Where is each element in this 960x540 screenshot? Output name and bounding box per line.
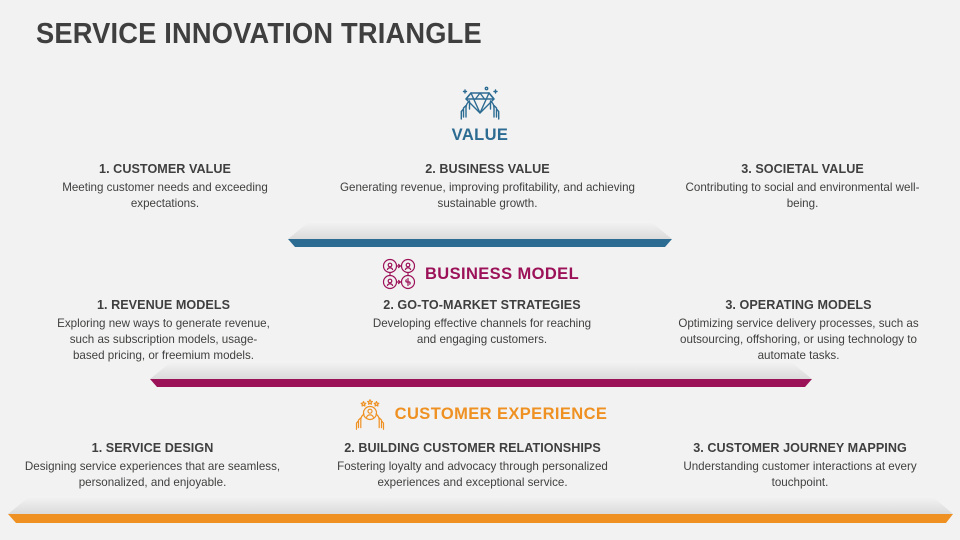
item-desc: Fostering loyalty and advocacy through p… bbox=[305, 459, 640, 491]
separator-customer-experience bbox=[0, 496, 960, 524]
separator-value bbox=[0, 221, 960, 247]
item-title: 2. BUILDING CUSTOMER RELATIONSHIPS bbox=[305, 441, 640, 455]
section-header-business-model: BUSINESS MODEL bbox=[0, 258, 960, 290]
item-desc: Meeting customer needs and exceeding exp… bbox=[24, 180, 306, 212]
columns-business-model: 1. REVENUE MODELS Exploring new ways to … bbox=[0, 298, 960, 364]
page-title: SERVICE INNOVATION TRIANGLE bbox=[36, 18, 482, 51]
separator-business-model bbox=[0, 361, 960, 387]
item-business-value: 2. BUSINESS VALUE Generating revenue, im… bbox=[330, 162, 645, 212]
item-desc: Understanding customer interactions at e… bbox=[640, 459, 960, 491]
hands-holding-person-stars-icon bbox=[353, 398, 387, 430]
item-title: 1. SERVICE DESIGN bbox=[0, 441, 305, 455]
section-header-value: VALUE bbox=[0, 84, 960, 145]
item-title: 2. GO-TO-MARKET STRATEGIES bbox=[327, 298, 637, 312]
item-customer-journey-mapping: 3. CUSTOMER JOURNEY MAPPING Understandin… bbox=[640, 441, 960, 491]
item-title: 3. CUSTOMER JOURNEY MAPPING bbox=[640, 441, 960, 455]
item-title: 1. REVENUE MODELS bbox=[0, 298, 327, 312]
section-label-business-model: BUSINESS MODEL bbox=[425, 265, 579, 284]
hands-holding-diamond-icon bbox=[456, 84, 504, 124]
item-customer-value: 1. CUSTOMER VALUE Meeting customer needs… bbox=[0, 162, 330, 212]
item-desc: Contributing to social and environmental… bbox=[645, 180, 960, 212]
item-building-customer-relationships: 2. BUILDING CUSTOMER RELATIONSHIPS Foste… bbox=[305, 441, 640, 491]
item-desc: Generating revenue, improving profitabil… bbox=[330, 180, 645, 212]
item-desc: Designing service experiences that are s… bbox=[0, 459, 305, 491]
item-title: 3. OPERATING MODELS bbox=[637, 298, 960, 312]
item-desc: Developing effective channels for reachi… bbox=[327, 316, 637, 348]
section-label-value: VALUE bbox=[452, 126, 509, 145]
section-header-customer-experience: CUSTOMER EXPERIENCE bbox=[0, 398, 960, 430]
item-go-to-market-strategies: 2. GO-TO-MARKET STRATEGIES Developing ef… bbox=[327, 298, 637, 364]
item-desc: Exploring new ways to generate revenue, … bbox=[0, 316, 327, 364]
columns-customer-experience: 1. SERVICE DESIGN Designing service expe… bbox=[0, 441, 960, 491]
item-title: 3. SOCIETAL VALUE bbox=[645, 162, 960, 176]
item-revenue-models: 1. REVENUE MODELS Exploring new ways to … bbox=[0, 298, 327, 364]
item-service-design: 1. SERVICE DESIGN Designing service expe… bbox=[0, 441, 305, 491]
item-title: 1. CUSTOMER VALUE bbox=[24, 162, 306, 176]
business-model-network-icon bbox=[381, 258, 417, 290]
item-desc: Optimizing service delivery processes, s… bbox=[637, 316, 960, 364]
columns-value: 1. CUSTOMER VALUE Meeting customer needs… bbox=[0, 162, 960, 212]
item-operating-models: 3. OPERATING MODELS Optimizing service d… bbox=[637, 298, 960, 364]
section-label-customer-experience: CUSTOMER EXPERIENCE bbox=[395, 405, 608, 424]
item-societal-value: 3. SOCIETAL VALUE Contributing to social… bbox=[645, 162, 960, 212]
item-title: 2. BUSINESS VALUE bbox=[330, 162, 645, 176]
